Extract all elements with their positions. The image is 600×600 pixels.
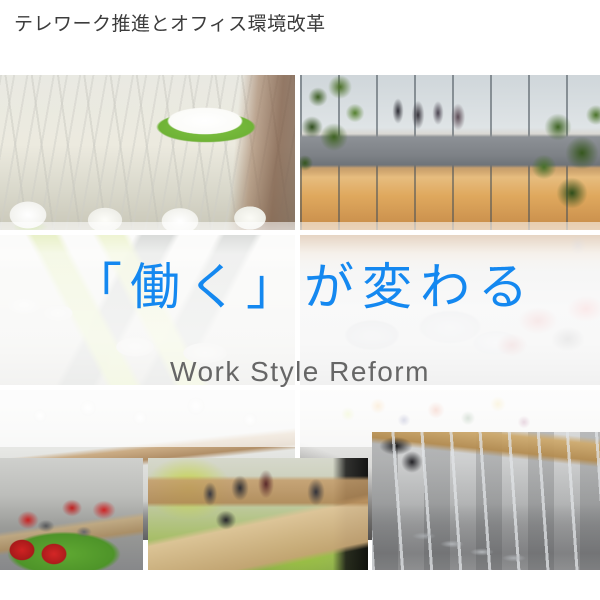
photo-pool-table-game-area	[148, 458, 368, 570]
photo-red-chairs-on-indoor-lawn	[0, 458, 143, 570]
headline-text: 「働く」が変わる	[0, 258, 600, 316]
photo-8-image	[148, 458, 368, 570]
slide-canvas: テレワーク推進とオフィス環境改革 「働く」	[0, 0, 600, 600]
page-title: テレワーク推進とオフィス環境改革	[14, 12, 326, 38]
photo-green-pendant-lamp-office	[0, 75, 295, 230]
photo-collage	[0, 75, 600, 570]
photo-1-image	[0, 75, 295, 230]
photo-2-image	[300, 75, 600, 230]
photo-bar-counter-with-stools	[372, 432, 600, 570]
subheadline-text: Work Style Reform	[0, 355, 600, 389]
photo-7-image	[0, 458, 143, 570]
photo-9-image	[372, 432, 600, 570]
photo-atrium-mezzanine-with-trees	[300, 75, 600, 230]
